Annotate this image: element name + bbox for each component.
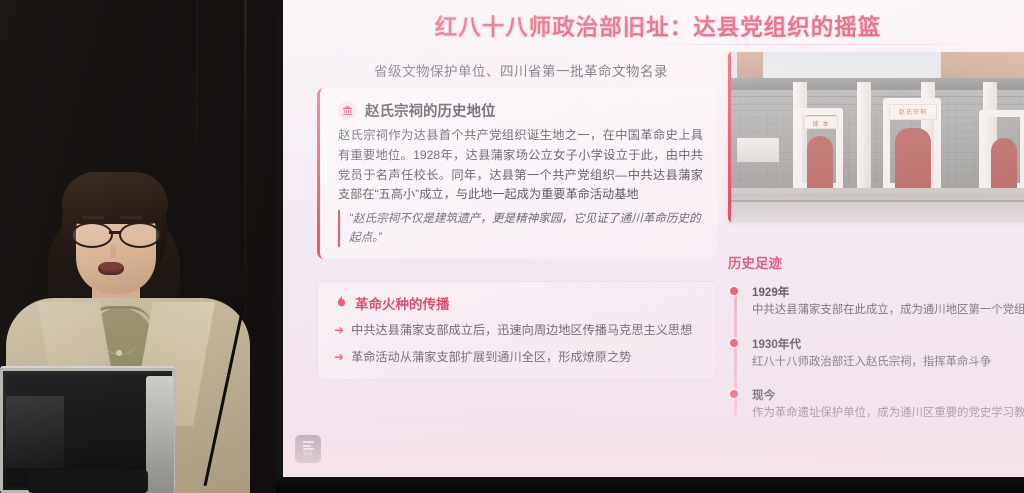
- screenshot-stage: 红八十八师政治部旧址：达县党组织的摇篮 省级文物保护单位、四川省第一批革命文物名…: [0, 0, 1024, 493]
- timeline-description: 作为革命遗址保护单位，成为通川区重要的党史学习教育基地: [752, 405, 1024, 422]
- history-card-header: 赵氏宗祠的历史地位: [338, 100, 703, 121]
- glasses-bridge: [109, 231, 121, 234]
- spread-bullet: ➜ 革命活动从蒲家支部扩展到通川全区，形成燎原之势: [334, 348, 702, 367]
- left-column: 赵氏宗祠的历史地位 赵氏宗祠作为达县首个共产党组织诞生地之一，在中国革命史上具有…: [317, 88, 717, 380]
- presenter-hair-front: [62, 172, 168, 224]
- layout-lines-icon: [303, 441, 314, 450]
- slide-layout-button-label: 布局: [303, 452, 312, 457]
- timeline-item: 1929年 中共达县蒲家支部在此成立，成为通川地区第一个党组织: [752, 284, 1024, 319]
- slide-layout-button[interactable]: 布局: [295, 435, 321, 463]
- glasses-lens-right: [119, 222, 161, 248]
- classical-building-icon: [338, 101, 357, 120]
- timeline-dot-icon: [730, 339, 738, 347]
- spread-bullet: ➜ 中共达县蒲家支部成立后，迅速向周边地区传播马克思主义思想: [334, 321, 702, 340]
- spread-card-title: 革命火种的传播: [355, 293, 450, 313]
- presenter-nose: [110, 244, 116, 258]
- presenter-eyebrow-right: [120, 216, 142, 219]
- timeline-dot-icon: [730, 287, 738, 295]
- spread-card: 革命火种的传播 ➜ 中共达县蒲家支部成立后，迅速向周边地区传播马克思主义思想 ➜…: [317, 281, 717, 380]
- arrow-right-icon: ➜: [334, 321, 344, 340]
- page-title: 红八十八师政治部旧址：达县党组织的摇篮: [313, 10, 1003, 42]
- glasses-icon: [67, 222, 165, 244]
- timeline-year: 现今: [752, 387, 1024, 403]
- right-column: 德 本 赵氏宗祠 历史足迹: [728, 52, 1024, 439]
- presentation-screen: 红八十八师政治部旧址：达县党组织的摇篮 省级文物保护单位、四川省第一批革命文物名…: [283, 0, 1024, 477]
- title-divider: [613, 44, 1003, 45]
- timeline: 1929年 中共达县蒲家支部在此成立，成为通川地区第一个党组织 1930年代 红…: [728, 284, 1024, 422]
- timeline-dot-icon: [730, 390, 738, 398]
- slide: 红八十八师政治部旧址：达县党组织的摇篮 省级文物保护单位、四川省第一批革命文物名…: [283, 0, 1024, 477]
- slide-subtitle: 省级文物保护单位、四川省第一批革命文物名录: [321, 60, 721, 80]
- monitor-side-panel: [146, 376, 174, 493]
- history-card-quote: “赵氏宗祠不仅是建筑遗产，更是精神家园，它见证了通川革命历史的起点。”: [338, 210, 703, 247]
- necklace-pendant: [116, 350, 122, 356]
- history-card: 赵氏宗祠的历史地位 赵氏宗祠作为达县首个共产党组织诞生地之一，在中国革命史上具有…: [317, 88, 717, 259]
- timeline-year: 1930年代: [752, 336, 1024, 352]
- heritage-photo-image: 德 本 赵氏宗祠: [731, 52, 1024, 222]
- arrow-right-icon: ➜: [334, 348, 344, 367]
- timeline-title: 历史足迹: [728, 252, 1024, 272]
- photo-haze-overlay: [731, 52, 1024, 222]
- timeline-item: 1930年代 红八十八师政治部迁入赵氏宗祠，指挥革命斗争: [752, 336, 1024, 371]
- presenter-mouth: [98, 262, 124, 275]
- timeline-description: 中共达县蒲家支部在此成立，成为通川地区第一个党组织: [752, 302, 1024, 319]
- secondary-monitor: [6, 396, 64, 468]
- glasses-lens-left: [71, 222, 113, 248]
- presenter-eyebrow-left: [82, 216, 104, 219]
- spread-bullet-text: 中共达县蒲家支部成立后，迅速向周边地区传播马克思主义思想: [351, 321, 692, 340]
- timeline-description: 红八十八师政治部迁入赵氏宗祠，指挥革命斗争: [752, 354, 1024, 371]
- monitor-base: [28, 470, 148, 493]
- timeline-year: 1929年: [752, 284, 1024, 300]
- spread-bullet-text: 革命活动从蒲家支部扩展到通川全区，形成燎原之势: [351, 348, 631, 367]
- flame-icon: [334, 294, 347, 313]
- spread-card-header: 革命火种的传播: [334, 293, 702, 313]
- timeline-item: 现今 作为革命遗址保护单位，成为通川区重要的党史学习教育基地: [752, 387, 1024, 422]
- heritage-photo: 德 本 赵氏宗祠: [728, 52, 1024, 222]
- history-card-title: 赵氏宗祠的历史地位: [365, 100, 496, 121]
- history-card-body: 赵氏宗祠作为达县首个共产党组织诞生地之一，在中国革命史上具有重要地位。1928年…: [338, 126, 703, 205]
- screen-lower-shadow: [276, 477, 1024, 493]
